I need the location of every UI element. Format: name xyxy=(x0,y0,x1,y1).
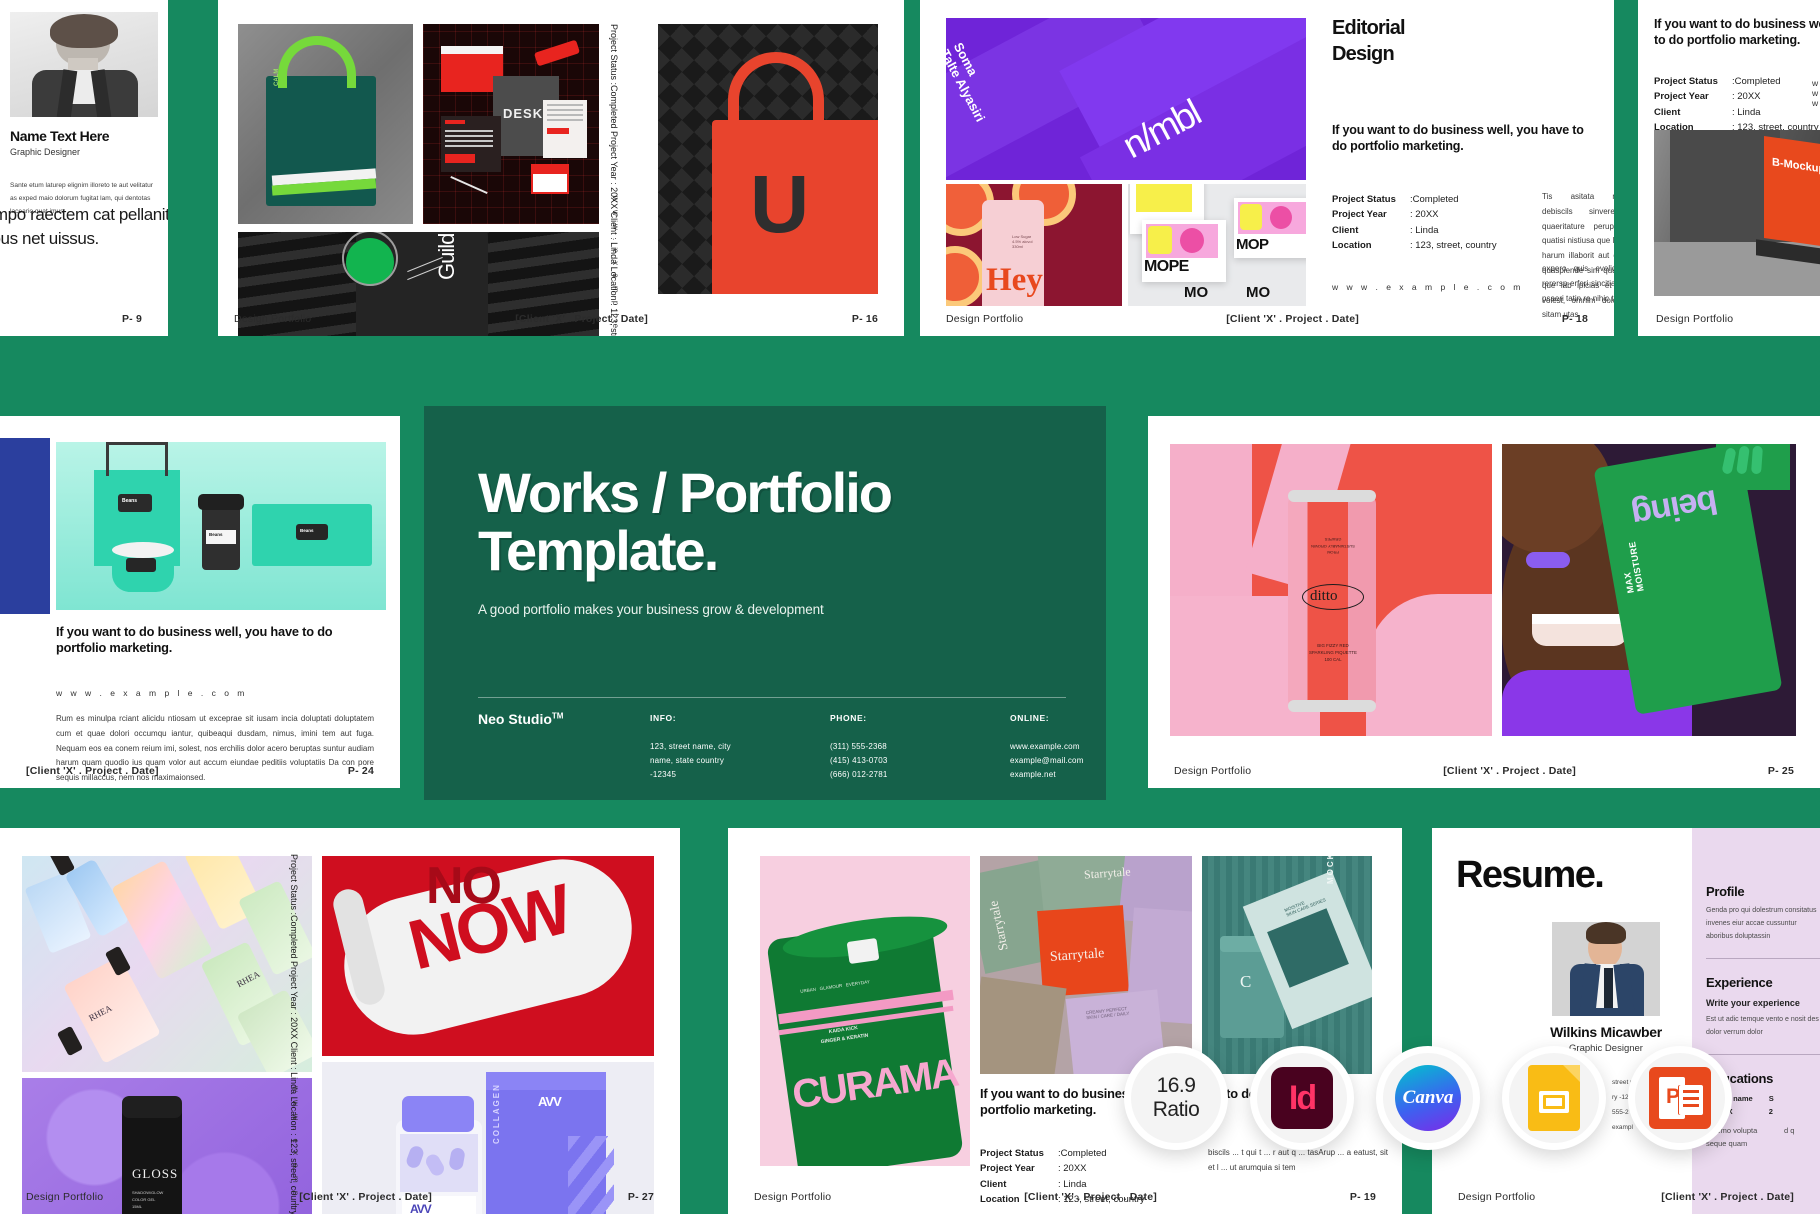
meta-value: : Linda xyxy=(1732,105,1820,120)
photo-red-now-can: NOW NO xyxy=(322,856,654,1056)
p24-web: w w w . e x a m p l e . c o m xyxy=(56,688,247,698)
slide-p9[interactable]: Name Text Here Graphic Designer Sante et… xyxy=(0,0,168,336)
online-line[interactable]: www.example.com xyxy=(1010,740,1106,754)
phone-line: (311) 555-2368 xyxy=(830,740,1010,754)
slide-p19[interactable]: CURAMA KAIDA KICKGINGER & KERATIN URBAN … xyxy=(728,828,1402,1214)
profile-heading: Profile xyxy=(1706,884,1820,899)
footer-center: [Client 'X' . Project . Date] xyxy=(1023,313,1562,325)
meta-value: : 123, street, country xyxy=(1410,238,1522,253)
meta-label: Project Year xyxy=(1332,207,1410,222)
google-slides-badge[interactable] xyxy=(1502,1046,1606,1150)
ratio-text: 16.9 Ratio xyxy=(1153,1074,1200,1121)
meta-label: Project Year xyxy=(980,1161,1058,1176)
slide-p18[interactable]: SomaTalte Alyasiri n/mbl Hey Low Sugar4.… xyxy=(920,0,1614,336)
meta-value: : 20XX xyxy=(1732,89,1820,104)
photo-starrytale-boxes: Starrytale Starrytale Starrytale CREAMY … xyxy=(980,856,1192,1074)
info-line: 123, street name, city xyxy=(650,740,830,754)
slide-footer: P- 9 xyxy=(0,302,168,336)
page-fold xyxy=(1563,1065,1580,1082)
footer-center: [Client 'X' . Project . Date] xyxy=(831,1191,1350,1203)
powerpoint-badge[interactable] xyxy=(1628,1046,1732,1150)
photo-b-mockup: B-Mockup xyxy=(1654,130,1820,296)
footer-left: Design Portfolio xyxy=(946,313,1023,325)
slide-p18b-partial[interactable]: If you want to do business well, you hav… xyxy=(1630,0,1820,336)
photo-mockup-jars: C MOCKUP MOISTIVESKIN CARE SERIES xyxy=(1202,856,1372,1074)
experience-subheading: Write your experience xyxy=(1706,998,1820,1008)
footer-center: [Client 'X' . Project . Date] xyxy=(311,313,852,325)
photo-nmbl-cards: SomaTalte Alyasiri n/mbl xyxy=(946,18,1306,180)
footer-center: [Client 'X' . Project . Date] xyxy=(1661,1191,1794,1203)
footer-page: P- 16 xyxy=(852,313,878,325)
subtitle: A good portfolio makes your business gro… xyxy=(478,602,1052,617)
indesign-icon: Id xyxy=(1271,1067,1333,1129)
photo-beans-cafe: Beans Beans Beans xyxy=(56,442,386,610)
phone-column: PHONE: (311) 555-2368 (415) 413-0703 (66… xyxy=(830,711,1010,782)
p18-meta: Project Status:Completed Project Year: 2… xyxy=(1332,192,1522,254)
online-heading: ONLINE: xyxy=(1010,711,1106,726)
accent-strip xyxy=(208,0,218,336)
profile-body: Genda pro qui dolestrum consitatus inven… xyxy=(1706,905,1820,944)
divider xyxy=(478,697,1066,698)
photo-desk-stationery: DESK xyxy=(423,24,599,224)
meta-label: Client xyxy=(1332,223,1410,238)
resume-name: Wilkins Micawber xyxy=(1520,1024,1692,1040)
edu-school-2: S xyxy=(1769,1092,1774,1105)
ratio-line1: 16.9 xyxy=(1153,1074,1200,1098)
photo-calm-tote: CALM xyxy=(238,24,413,224)
slide-p27[interactable]: RHEA RHEA GLOSS SHADOW/GLOWCOLOR GEL15ML… xyxy=(0,828,680,1214)
education-body-row: ontemo volupta seque quam d q xyxy=(1706,1124,1820,1150)
photo-red-tote: U xyxy=(658,24,878,294)
p18b-headline: If you want to do business well, you hav… xyxy=(1654,16,1820,48)
slide-p16[interactable]: CALM DESK Guild xyxy=(208,0,904,336)
indesign-badge[interactable]: Id xyxy=(1250,1046,1354,1150)
meta-label: Project Status xyxy=(980,1146,1058,1161)
p9-role: Graphic Designer xyxy=(10,147,158,157)
canva-label: Canva xyxy=(1403,1087,1454,1109)
meta-label: Project Status xyxy=(1332,192,1410,207)
photo-ditto-can: ditto BIG FIZZY REDSPARKLING PIQUETTE100… xyxy=(1170,444,1492,736)
trademark-mark: TM xyxy=(552,711,564,720)
experience-body: Est ut adic temque vento e nosit des dol… xyxy=(1706,1014,1820,1040)
edu-body-right: d q xyxy=(1784,1124,1794,1150)
main-title-line2: Template. xyxy=(478,519,717,582)
slide-footer: Design Portfolio xyxy=(1630,302,1820,336)
portrait-photo xyxy=(10,12,158,117)
slide-p25[interactable]: ditto BIG FIZZY REDSPARKLING PIQUETTE100… xyxy=(1148,416,1820,788)
divider xyxy=(1706,1054,1820,1055)
photo-mope-packaging: MOPE MOP MO MO xyxy=(1128,184,1306,306)
p9-large-text: incimpo raectem cat pellanitiam quibus n… xyxy=(0,203,168,250)
divider xyxy=(1706,958,1820,959)
footer-center: [Client 'X' . Project . Date] xyxy=(1251,765,1768,777)
footer-left: Design Portfolio xyxy=(26,1191,103,1203)
meta-label: Client xyxy=(1654,105,1732,120)
p18b-meta: Project Status:Completed Project Year: 2… xyxy=(1654,74,1820,136)
ratio-badge[interactable]: 16.9 Ratio xyxy=(1124,1046,1228,1150)
footer-left: Design Portfolio xyxy=(754,1191,831,1203)
photo-resume-portrait xyxy=(1552,922,1660,1016)
p18-title-line2: Design xyxy=(1332,43,1394,65)
meta-label: Location xyxy=(1332,238,1410,253)
footer-page: P- 18 xyxy=(1562,313,1588,325)
phone-line: (666) 012-2781 xyxy=(830,768,1010,782)
slide-footer: Design Portfolio [Client 'X' . Project .… xyxy=(1432,1180,1820,1214)
photo-curama-tube: CURAMA KAIDA KICKGINGER & KERATIN URBAN … xyxy=(760,856,970,1166)
title-block: Works / Portfolio Template. A good portf… xyxy=(424,406,1106,617)
indesign-label: Id xyxy=(1289,1079,1315,1118)
footer-center: [Client 'X' . Project . Date] xyxy=(26,765,159,777)
meta-value: : 20XX xyxy=(1058,1161,1200,1176)
p18b-web: w w w xyxy=(1812,78,1820,108)
slide-footer: Design Portfolio [Client 'X' . Project .… xyxy=(920,302,1614,336)
slide-footer: Design Portfolio [Client 'X' . Project .… xyxy=(208,302,904,336)
resume-side-panel: Profile Genda pro qui dolestrum consitat… xyxy=(1692,828,1820,1214)
footer-page: P- 27 xyxy=(628,1191,654,1203)
slide-footer: [Client 'X' . Project . Date] P- 24 xyxy=(0,754,400,788)
main-title-line1: Works / Portfolio xyxy=(478,461,891,524)
main-title: Works / Portfolio Template. xyxy=(478,464,1052,580)
meta-value: : 20XX xyxy=(1410,207,1522,222)
slide-resume[interactable]: Resume. Wilkins Micawber Graphic Designe… xyxy=(1432,828,1820,1214)
meta-label: Project Status xyxy=(1654,74,1732,89)
edu-year-2: 2 xyxy=(1769,1105,1774,1118)
info-line: name, state country xyxy=(650,754,830,768)
ratio-line2: Ratio xyxy=(1153,1098,1200,1122)
footer-page: P- 9 xyxy=(122,313,142,325)
photo-hey-can: Hey Low Sugar4.5% alcvol330ml xyxy=(946,184,1122,306)
studio-label: Neo Studio xyxy=(478,711,552,727)
pp-doc-back xyxy=(1679,1085,1703,1115)
experience-heading: Experience xyxy=(1706,975,1820,990)
meta-value: : Linda xyxy=(1410,223,1522,238)
info-line: -12345 xyxy=(650,768,830,782)
meta-value: :Completed xyxy=(1732,74,1820,89)
photo-being-shampoo: being MAXMOISTURE xyxy=(1502,444,1796,736)
studio-name: Neo StudioTM xyxy=(478,711,650,782)
slide-footer: Design Portfolio [Client 'X' . Project .… xyxy=(0,1180,680,1214)
footer-left: Design Portfolio xyxy=(1656,313,1733,325)
canva-badge[interactable]: Canva xyxy=(1376,1046,1480,1150)
footer-page: P- 19 xyxy=(1350,1191,1376,1203)
accent-strip xyxy=(1630,0,1638,336)
p24-headline: If you want to do business well, you hav… xyxy=(56,624,372,657)
slide-p24[interactable]: Beans Beans Beans If you want to do busi… xyxy=(0,416,400,788)
phone-line: (415) 413-0703 xyxy=(830,754,1010,768)
info-column: INFO: 123, street name, city name, state… xyxy=(650,711,830,782)
p19-hidden-body: biscils ... t qui t ... r aut q ... tasA… xyxy=(1208,1146,1388,1176)
info-heading: INFO: xyxy=(650,711,830,726)
meta-label: Project Year xyxy=(1654,89,1732,104)
decor-blue-block xyxy=(0,438,50,614)
phone-heading: PHONE: xyxy=(830,711,1010,726)
google-slides-icon xyxy=(1528,1065,1580,1131)
powerpoint-icon xyxy=(1649,1067,1711,1129)
footer-left: Design Portfolio xyxy=(1174,765,1251,777)
online-column: ONLINE: www.example.com example@mail.com… xyxy=(1010,711,1106,782)
portfolio-template-preview: Name Text Here Graphic Designer Sante et… xyxy=(0,0,1820,1214)
footer-page: P- 25 xyxy=(1768,765,1794,777)
photo-rhea-skincare: RHEA RHEA xyxy=(22,856,312,1072)
meta-value: :Completed xyxy=(1410,192,1522,207)
footer-page: P- 24 xyxy=(348,765,374,777)
p9-name: Name Text Here xyxy=(10,128,158,144)
footer-center: [Client 'X' . Project . Date] xyxy=(103,1191,628,1203)
slide-title[interactable]: Works / Portfolio Template. A good portf… xyxy=(424,406,1106,800)
p18-title-line1: Editorial xyxy=(1332,17,1405,39)
footer-left: Design Portfolio xyxy=(234,313,311,325)
footer-left: Design Portfolio xyxy=(1458,1191,1535,1203)
slide-footer: Design Portfolio [Client 'X' . Project .… xyxy=(728,1180,1402,1214)
slide-shape xyxy=(1539,1091,1569,1113)
p18-web: w w w . e x a m p l e . c o m xyxy=(1332,282,1523,292)
title-footer: Neo StudioTM INFO: 123, street name, cit… xyxy=(478,711,1066,782)
resume-title: Resume. xyxy=(1456,854,1603,897)
online-line[interactable]: example.net xyxy=(1010,768,1106,782)
slide-footer: Design Portfolio [Client 'X' . Project .… xyxy=(1148,754,1820,788)
canva-icon: Canva xyxy=(1395,1065,1461,1131)
p18-headline: If you want to do business well, you hav… xyxy=(1332,122,1600,154)
online-line[interactable]: example@mail.com xyxy=(1010,754,1106,768)
p18-body-2: expero quis eveliqui doluptati rerersp e… xyxy=(1542,262,1614,306)
